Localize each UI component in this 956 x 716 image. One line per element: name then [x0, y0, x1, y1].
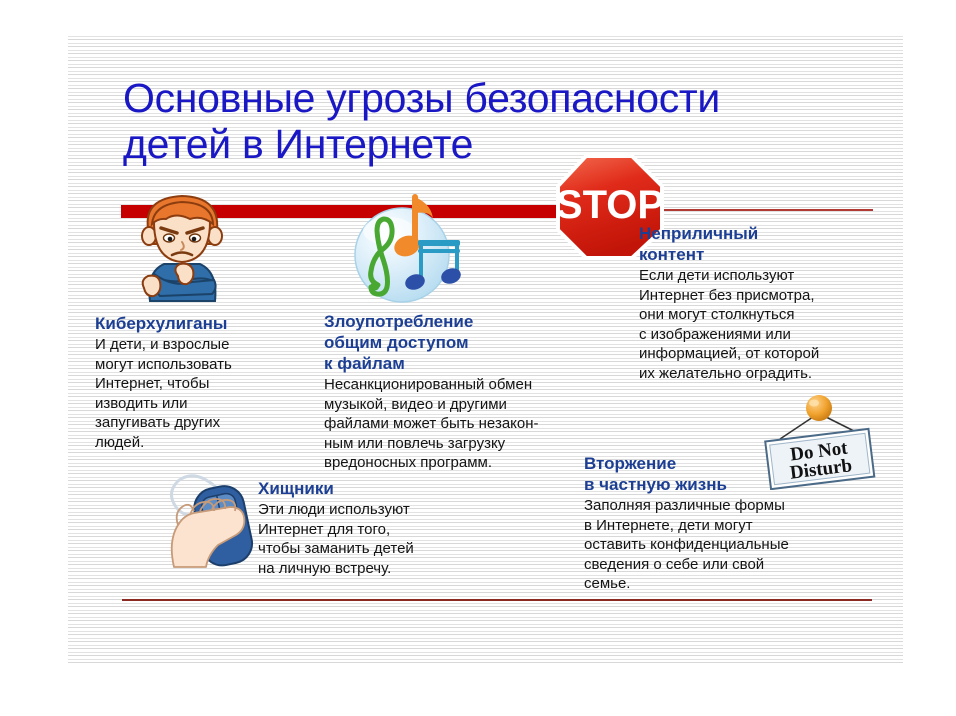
hand-on-mouse-illustration — [160, 463, 265, 571]
body-indecent-content: Если дети используют Интернет без присмо… — [639, 266, 887, 383]
block-indecent-content: Неприличный контент Если дети используют… — [639, 223, 887, 383]
page-title: Основные угрозы безопасности детей в Инт… — [123, 75, 823, 167]
heading-indecent-content: Неприличный контент — [639, 223, 887, 265]
angry-boy-illustration — [130, 188, 234, 303]
body-privacy-invasion: Заполняя различные формы в Интернете, де… — [584, 496, 856, 594]
block-filesharing: Злоупотребление общим доступом к файлам … — [324, 311, 594, 473]
body-filesharing: Несанкционированный обмен музыкой, видео… — [324, 375, 594, 473]
heading-privacy-invasion: Вторжение в частную жизнь — [584, 453, 856, 495]
block-predators: Хищники Эти люди используют Интернет для… — [258, 478, 493, 578]
slide-canvas: Основные угрозы безопасности детей в Инт… — [68, 33, 903, 664]
stop-sign-label: STOP — [556, 183, 664, 227]
heading-predators: Хищники — [258, 478, 493, 499]
body-cyberbullies: И дети, и взрослые могут использовать Ин… — [95, 335, 310, 452]
block-cyberbullies: Киберхулиганы И дети, и взрослые могут и… — [95, 313, 310, 452]
heading-cyberbullies: Киберхулиганы — [95, 313, 310, 334]
block-privacy-invasion: Вторжение в частную жизнь Заполняя разли… — [584, 453, 856, 594]
music-notes-illustration — [345, 183, 465, 305]
body-predators: Эти люди используют Интернет для того, ч… — [258, 500, 493, 578]
heading-filesharing: Злоупотребление общим доступом к файлам — [324, 311, 594, 374]
footer-divider — [122, 599, 872, 601]
